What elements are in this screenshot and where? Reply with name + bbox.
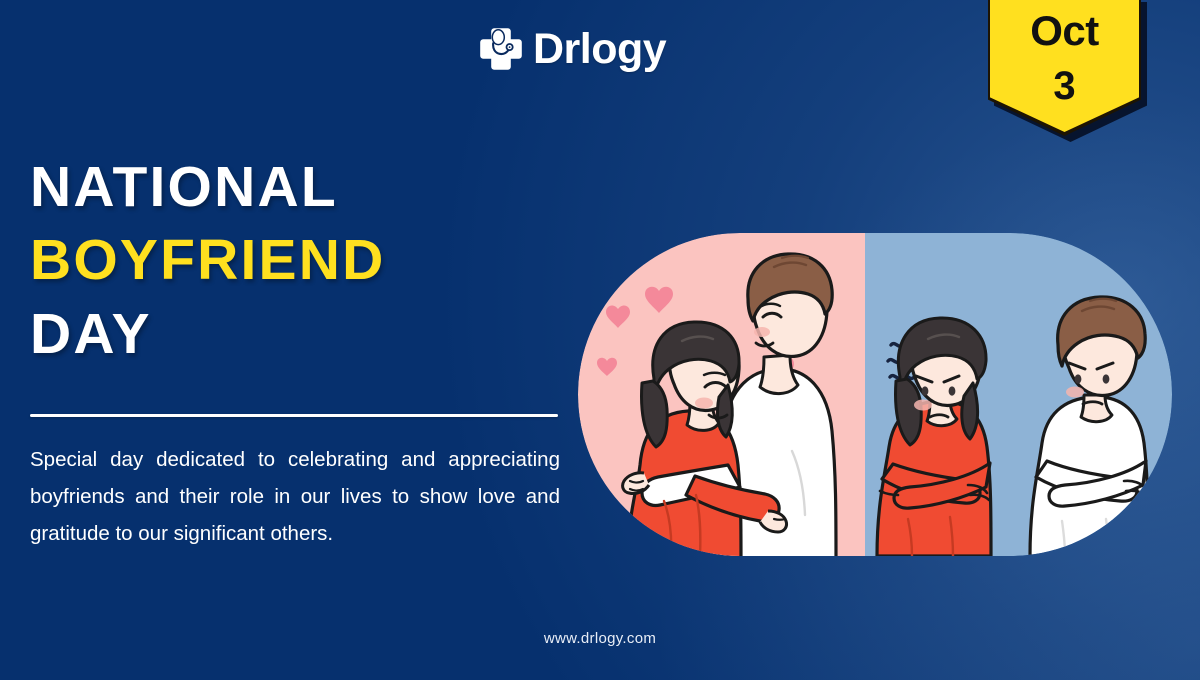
date-badge-day: 3 xyxy=(1053,66,1075,106)
medical-cross-stethoscope-icon xyxy=(478,26,524,72)
page-title: NATIONAL BOYFRIEND DAY xyxy=(30,158,590,364)
date-badge-month: Oct xyxy=(1030,10,1099,52)
illustration-svg xyxy=(578,233,1172,556)
brand-wordmark: Drlogy xyxy=(533,28,666,71)
brand-logo[interactable]: Drlogy xyxy=(478,26,666,72)
headline-line-1: NATIONAL xyxy=(30,158,590,217)
description-text: Special day dedicated to celebrating and… xyxy=(30,442,560,553)
headline-line-2: BOYFRIEND xyxy=(30,231,590,290)
date-badge: Oct 3 xyxy=(988,0,1141,136)
poster-canvas: Drlogy Oct 3 NATIONAL BOYFRIEND DAY Spec… xyxy=(0,0,1200,680)
website-url: www.drlogy.com xyxy=(0,630,1200,647)
headline-line-3: DAY xyxy=(30,305,590,364)
couple-illustration xyxy=(578,233,1172,556)
title-divider xyxy=(30,414,558,417)
